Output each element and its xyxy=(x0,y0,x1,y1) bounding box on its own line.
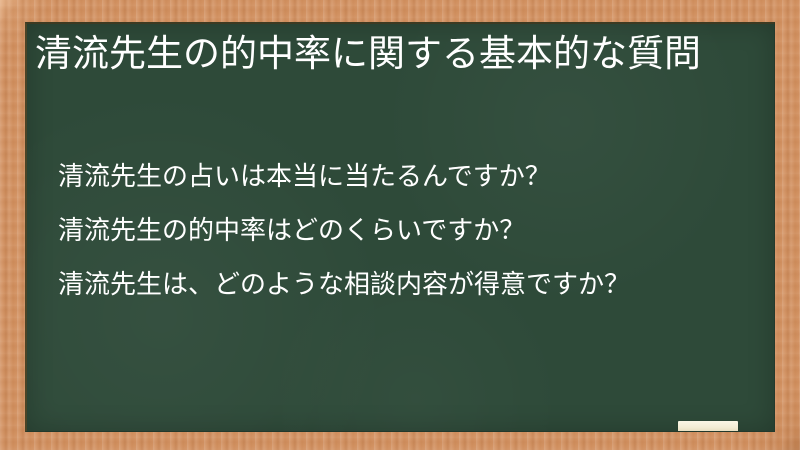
question-list: 清流先生の占いは本当に当たるんですか？ 清流先生の的中率はどのくらいですか？ 清… xyxy=(58,150,758,312)
chalk-stick-icon xyxy=(678,421,738,432)
chalkboard-surface: 清流先生の的中率に関する基本的な質問 清流先生の占いは本当に当たるんですか？ 清… xyxy=(25,22,775,432)
chalkboard-frame: 清流先生の的中率に関する基本的な質問 清流先生の占いは本当に当たるんですか？ 清… xyxy=(0,0,800,450)
question-item-1: 清流先生の占いは本当に当たるんですか？ xyxy=(58,150,758,204)
question-item-2: 清流先生の的中率はどのくらいですか？ xyxy=(58,204,758,258)
question-item-3: 清流先生は、どのような相談内容が得意ですか？ xyxy=(58,258,758,312)
slide-title: 清流先生の的中率に関する基本的な質問 xyxy=(35,30,751,78)
